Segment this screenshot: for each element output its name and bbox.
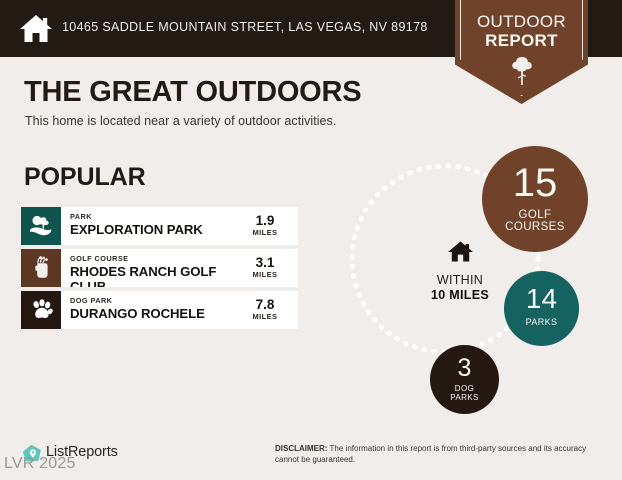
home-icon	[19, 13, 53, 44]
disclaimer: DISCLAIMER: The information in this repo…	[275, 443, 599, 465]
stat-circle-golf-courses[interactable]: 15 GOLF COURSES	[482, 146, 588, 252]
page-subtitle: This home is located near a variety of o…	[25, 114, 336, 128]
list-item-text: PARK EXPLORATION PARK	[70, 212, 242, 237]
outdoor-report-badge: OUTDOOR REPORT	[455, 0, 588, 104]
list-item[interactable]: PARK EXPLORATION PARK 1.9 MILES	[21, 207, 298, 245]
distance-unit: MILES	[241, 270, 289, 280]
distance-value: 7.8	[241, 298, 289, 312]
stat-count: 3	[430, 356, 499, 381]
center-miles-text: 10 MILES	[405, 288, 515, 303]
stat-label: GOLF COURSES	[482, 209, 588, 234]
paw-icon	[29, 298, 54, 322]
disclaimer-label: DISCLAIMER:	[275, 444, 327, 453]
badge-title-line1: OUTDOOR	[455, 12, 588, 31]
list-item-name: EXPLORATION PARK	[70, 222, 242, 237]
golf-bag-icon-box	[21, 249, 61, 287]
stat-circle-parks[interactable]: 14 PARKS	[504, 271, 579, 346]
list-item-text: GOLF COURSE RHODES RANCH GOLF CLUB	[70, 254, 242, 287]
list-item-distance: 1.9 MILES	[241, 214, 289, 238]
stat-label-line2: COURSES	[482, 221, 588, 233]
distance-unit: MILES	[241, 228, 289, 238]
badge-title-line2: REPORT	[455, 31, 588, 50]
list-item[interactable]: DOG PARK DURANGO ROCHELE 7.8 MILES	[21, 291, 298, 329]
diagram-center-label: WITHIN 10 MILES	[405, 240, 515, 303]
distance-value: 1.9	[241, 214, 289, 228]
stat-label-line2: PARKS	[430, 394, 499, 403]
list-item-category: PARK	[70, 212, 242, 221]
stat-circle-dog-parks[interactable]: 3 DOG PARKS	[430, 345, 499, 414]
list-item-name: RHODES RANCH GOLF CLUB	[70, 264, 242, 287]
home-icon	[405, 240, 515, 268]
distance-unit: MILES	[241, 312, 289, 322]
stat-count: 15	[482, 163, 588, 203]
golf-bag-icon	[29, 256, 53, 280]
list-item-category: DOG PARK	[70, 296, 242, 305]
tree-icon	[510, 56, 534, 86]
badge-title: OUTDOOR REPORT	[455, 12, 588, 50]
property-address: 10465 SADDLE MOUNTAIN STREET, LAS VEGAS,…	[62, 20, 428, 34]
page-title: THE GREAT OUTDOORS	[24, 76, 361, 109]
stat-label-line1: GOLF	[482, 209, 588, 221]
popular-list: PARK EXPLORATION PARK 1.9 MILES	[21, 207, 298, 333]
stat-count: 14	[504, 285, 579, 313]
list-item-distance: 7.8 MILES	[241, 298, 289, 322]
distance-value: 3.1	[241, 256, 289, 270]
within-10-miles-diagram: 15 GOLF COURSES 14 PARKS 3 DOG PARKS	[330, 140, 610, 420]
list-item-text: DOG PARK DURANGO ROCHELE	[70, 296, 242, 321]
list-item[interactable]: GOLF COURSE RHODES RANCH GOLF CLUB 3.1 M…	[21, 249, 298, 287]
section-title-popular: POPULAR	[24, 163, 146, 192]
stat-label: DOG PARKS	[430, 385, 499, 402]
park-icon	[28, 214, 54, 238]
list-item-category: GOLF COURSE	[70, 254, 242, 263]
list-item-name: DURANGO ROCHELE	[70, 306, 242, 321]
watermark-text: LVR 2025	[4, 455, 76, 473]
paw-icon-box	[21, 291, 61, 329]
park-icon-box	[21, 207, 61, 245]
center-within-text: WITHIN	[405, 273, 515, 288]
stat-label-line1: PARKS	[504, 318, 579, 328]
list-item-distance: 3.1 MILES	[241, 256, 289, 280]
outdoor-report-page: 10465 SADDLE MOUNTAIN STREET, LAS VEGAS,…	[0, 0, 622, 480]
stat-label: PARKS	[504, 318, 579, 328]
